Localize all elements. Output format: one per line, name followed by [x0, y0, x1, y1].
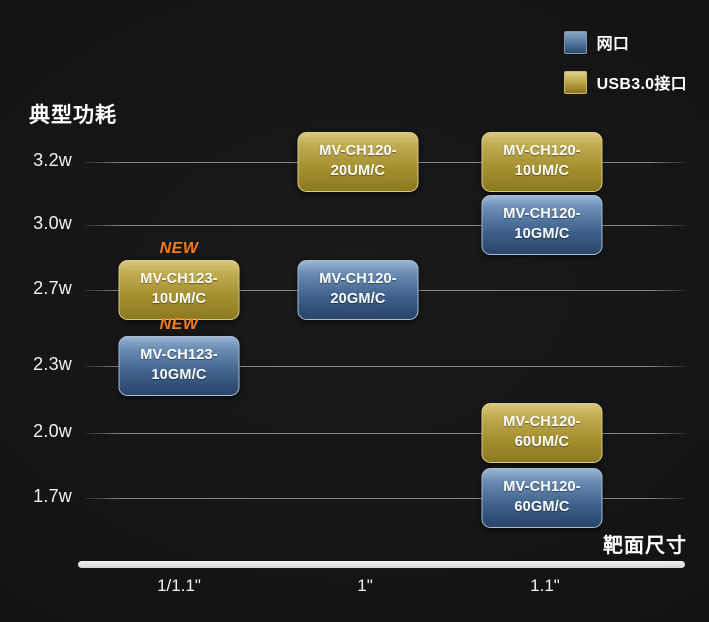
data-point-label-line2: 10UM/C — [483, 162, 602, 182]
legend-swatch-icon — [564, 31, 587, 54]
legend-item-label: 网口 — [597, 30, 630, 54]
legend-item-label: USB3.0接口 — [597, 70, 687, 94]
y-axis-tick-label: 2.0w — [0, 421, 72, 442]
chart-legend: 网口 USB3.0接口 — [564, 30, 687, 94]
data-point-pill[interactable]: MV-CH120-10GM/C — [482, 195, 603, 255]
data-point-label-line1: MV-CH120- — [483, 142, 602, 162]
data-point-pill[interactable]: MV-CH120-20UM/C — [298, 132, 419, 192]
chart-row: 2.3w — [0, 366, 709, 368]
data-point-label-line2: 20UM/C — [299, 162, 418, 182]
data-point-label-line1: MV-CH120- — [483, 205, 602, 225]
data-point-label-line2: 60UM/C — [483, 433, 602, 453]
data-point-pill[interactable]: MV-CH123-10UM/C — [119, 260, 240, 320]
new-badge: NEW — [160, 316, 199, 334]
legend-item-network-port: 网口 — [564, 30, 630, 54]
data-point-label-line1: MV-CH120- — [299, 270, 418, 290]
data-point-label-line1: MV-CH120- — [483, 413, 602, 433]
x-axis-bar — [78, 561, 685, 568]
data-point-pill[interactable]: MV-CH120-20GM/C — [298, 260, 419, 320]
x-axis-tick-label: 1" — [357, 576, 373, 596]
data-point-label-line1: MV-CH123- — [120, 346, 239, 366]
y-axis-tick-label: 2.3w — [0, 354, 72, 375]
data-point-label-line1: MV-CH120- — [483, 478, 602, 498]
legend-swatch-icon — [564, 71, 587, 94]
y-axis-tick-label: 3.2w — [0, 150, 72, 171]
power-consumption-chart-page: { "title": "典型功耗", "legend": { "position… — [0, 0, 709, 622]
plot-area: 3.2w3.0w2.7w2.3w2.0w1.7wMV-CH120-20UM/CM… — [0, 128, 709, 528]
data-point-label-line2: 10GM/C — [483, 225, 602, 245]
chart-row: 2.0w — [0, 433, 709, 435]
data-point-label-line2: 10GM/C — [120, 366, 239, 386]
chart-row: 3.0w — [0, 225, 709, 227]
y-axis-tick-label: 1.7w — [0, 486, 72, 507]
y-axis-tick-label: 2.7w — [0, 278, 72, 299]
y-axis-tick-label: 3.0w — [0, 213, 72, 234]
page-title: 典型功耗 — [29, 99, 117, 129]
data-point-label-line2: 10UM/C — [120, 290, 239, 310]
x-axis-tick-label: 1.1" — [530, 576, 560, 596]
data-point-pill[interactable]: MV-CH120-60UM/C — [482, 403, 603, 463]
data-point-label-line1: MV-CH123- — [120, 270, 239, 290]
x-axis-title: 靶面尺寸 — [603, 529, 687, 558]
data-point-label-line2: 60GM/C — [483, 498, 602, 518]
data-point-label-line2: 20GM/C — [299, 290, 418, 310]
data-point-pill[interactable]: MV-CH120-10UM/C — [482, 132, 603, 192]
new-badge: NEW — [160, 240, 199, 258]
legend-item-usb30-port: USB3.0接口 — [564, 70, 687, 94]
chart-row: 1.7w — [0, 498, 709, 500]
data-point-pill[interactable]: MV-CH120-60GM/C — [482, 468, 603, 528]
x-axis-tick-label: 1/1.1" — [157, 576, 201, 596]
data-point-label-line1: MV-CH120- — [299, 142, 418, 162]
data-point-pill[interactable]: MV-CH123-10GM/C — [119, 336, 240, 396]
